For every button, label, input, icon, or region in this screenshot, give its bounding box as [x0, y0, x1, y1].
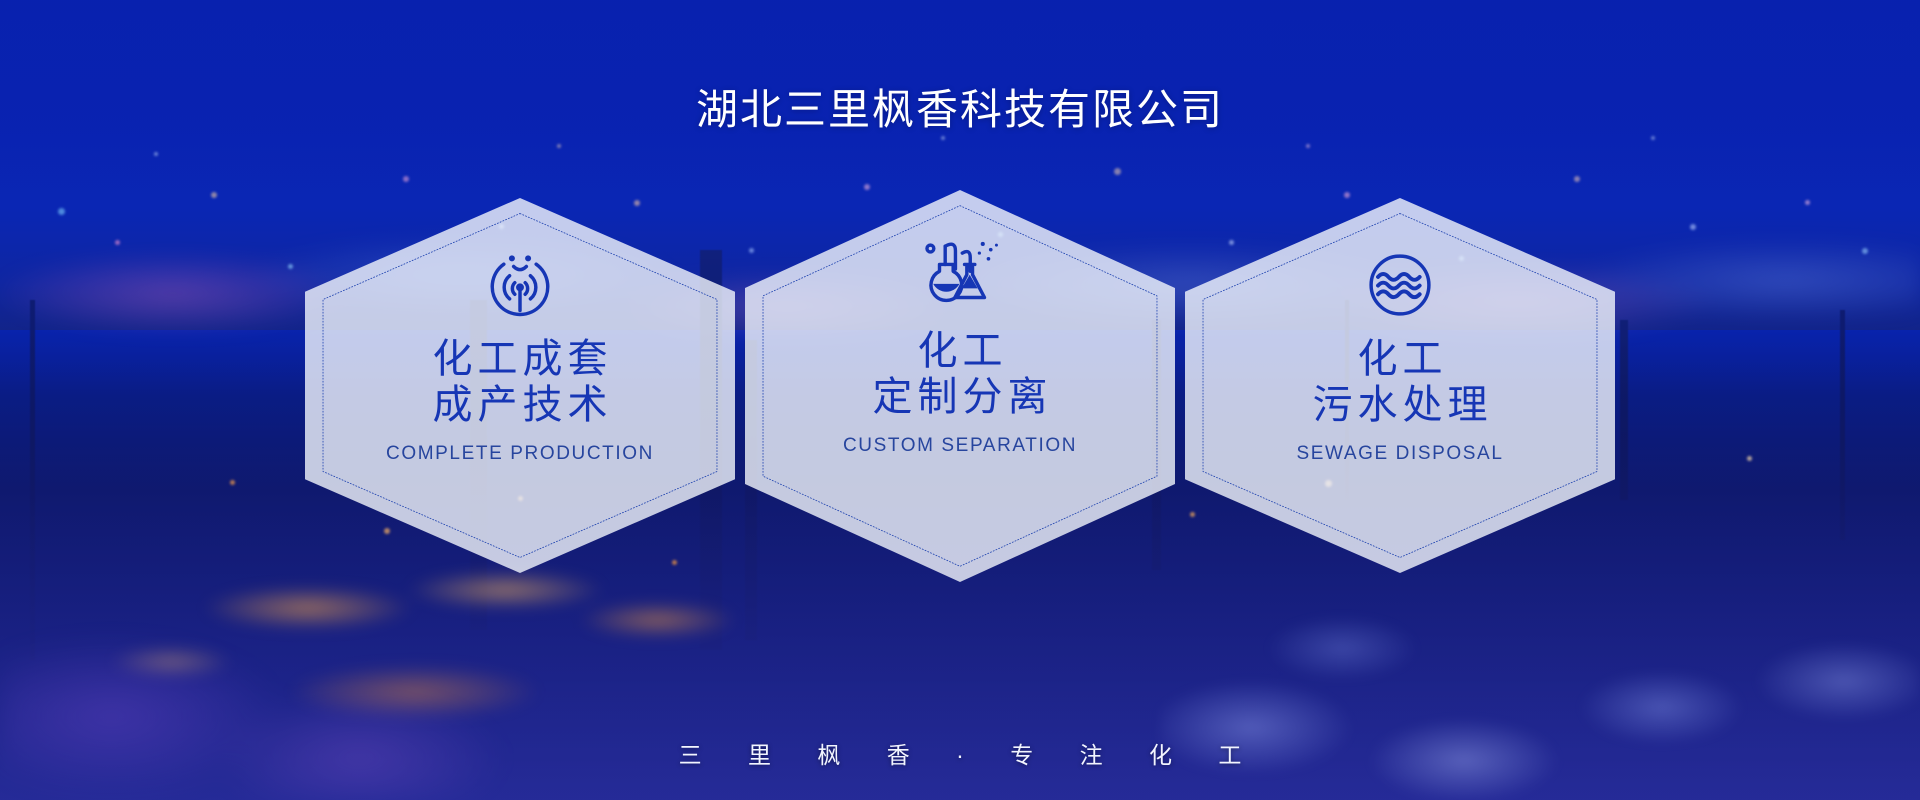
service-title-cn-line1: 化工: [1358, 337, 1448, 381]
hero-banner: 湖北三里枫香科技有限公司: [0, 0, 1920, 800]
service-title-cn: 化工 定制分离: [868, 328, 1053, 421]
service-title-cn-line2: 定制分离: [868, 374, 1053, 420]
service-card-sewage-disposal[interactable]: 化工 污水处理 SEWAGE DISPOSAL: [1185, 198, 1615, 573]
service-title-cn-line2: 成产技术: [428, 382, 613, 428]
service-title-en: CUSTOM SEPARATION: [843, 435, 1077, 457]
broadcast-tower-icon: [483, 242, 557, 328]
service-title-cn-line1: 化工成套: [433, 337, 613, 381]
service-title-en: SEWAGE DISPOSAL: [1296, 443, 1503, 465]
service-title-cn: 化工 污水处理: [1308, 336, 1493, 429]
water-waves-circle-icon: [1363, 242, 1437, 328]
slogan: 三 里 枫 香 · 专 注 化 工: [0, 736, 1920, 770]
lab-flasks-icon: [919, 234, 1001, 320]
service-card-custom-separation[interactable]: 化工 定制分离 CUSTOM SEPARATION: [745, 190, 1175, 582]
page-title: 湖北三里枫香科技有限公司: [0, 76, 1920, 137]
service-title-cn-line2: 污水处理: [1308, 382, 1493, 428]
service-title-en: COMPLETE PRODUCTION: [386, 443, 654, 465]
service-card-complete-production[interactable]: 化工成套 成产技术 COMPLETE PRODUCTION: [305, 198, 735, 573]
service-cards-row: 化工成套 成产技术 COMPLETE PRODUCTION: [0, 198, 1920, 582]
service-title-cn-line1: 化工: [918, 329, 1008, 373]
service-title-cn: 化工成套 成产技术: [428, 336, 613, 429]
